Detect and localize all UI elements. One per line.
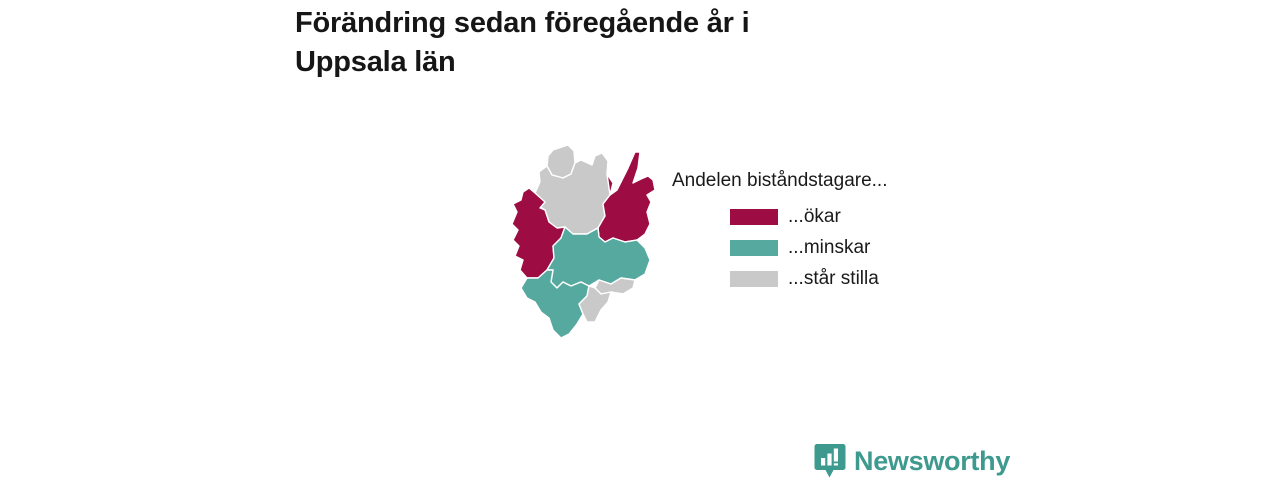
legend-title: Andelen biståndstagare... <box>672 170 1002 193</box>
legend: Andelen biståndstagare... ...ökar ...min… <box>672 170 1002 295</box>
newsworthy-logo[interactable]: Newsworthy <box>814 443 1010 479</box>
legend-item-unchanged[interactable]: ...står stilla <box>672 264 1002 295</box>
choropleth-map-figure: Förändring sedan föregående år i Uppsala… <box>0 0 1280 480</box>
legend-swatch-decreasing <box>730 240 778 256</box>
legend-swatch-unchanged <box>730 271 778 287</box>
legend-label-increasing: ...ökar <box>788 206 841 228</box>
legend-item-increasing[interactable]: ...ökar <box>672 202 1002 233</box>
map-container <box>495 138 675 344</box>
legend-label-decreasing: ...minskar <box>788 237 870 259</box>
legend-label-unchanged: ...står stilla <box>788 268 879 290</box>
legend-item-decreasing[interactable]: ...minskar <box>672 233 1002 264</box>
legend-swatch-increasing <box>730 209 778 225</box>
page-title: Förändring sedan föregående år i Uppsala… <box>295 4 895 81</box>
uppsala-county-map <box>495 138 675 344</box>
chart-pin-icon <box>814 443 846 479</box>
brand-name: Newsworthy <box>854 448 1010 475</box>
